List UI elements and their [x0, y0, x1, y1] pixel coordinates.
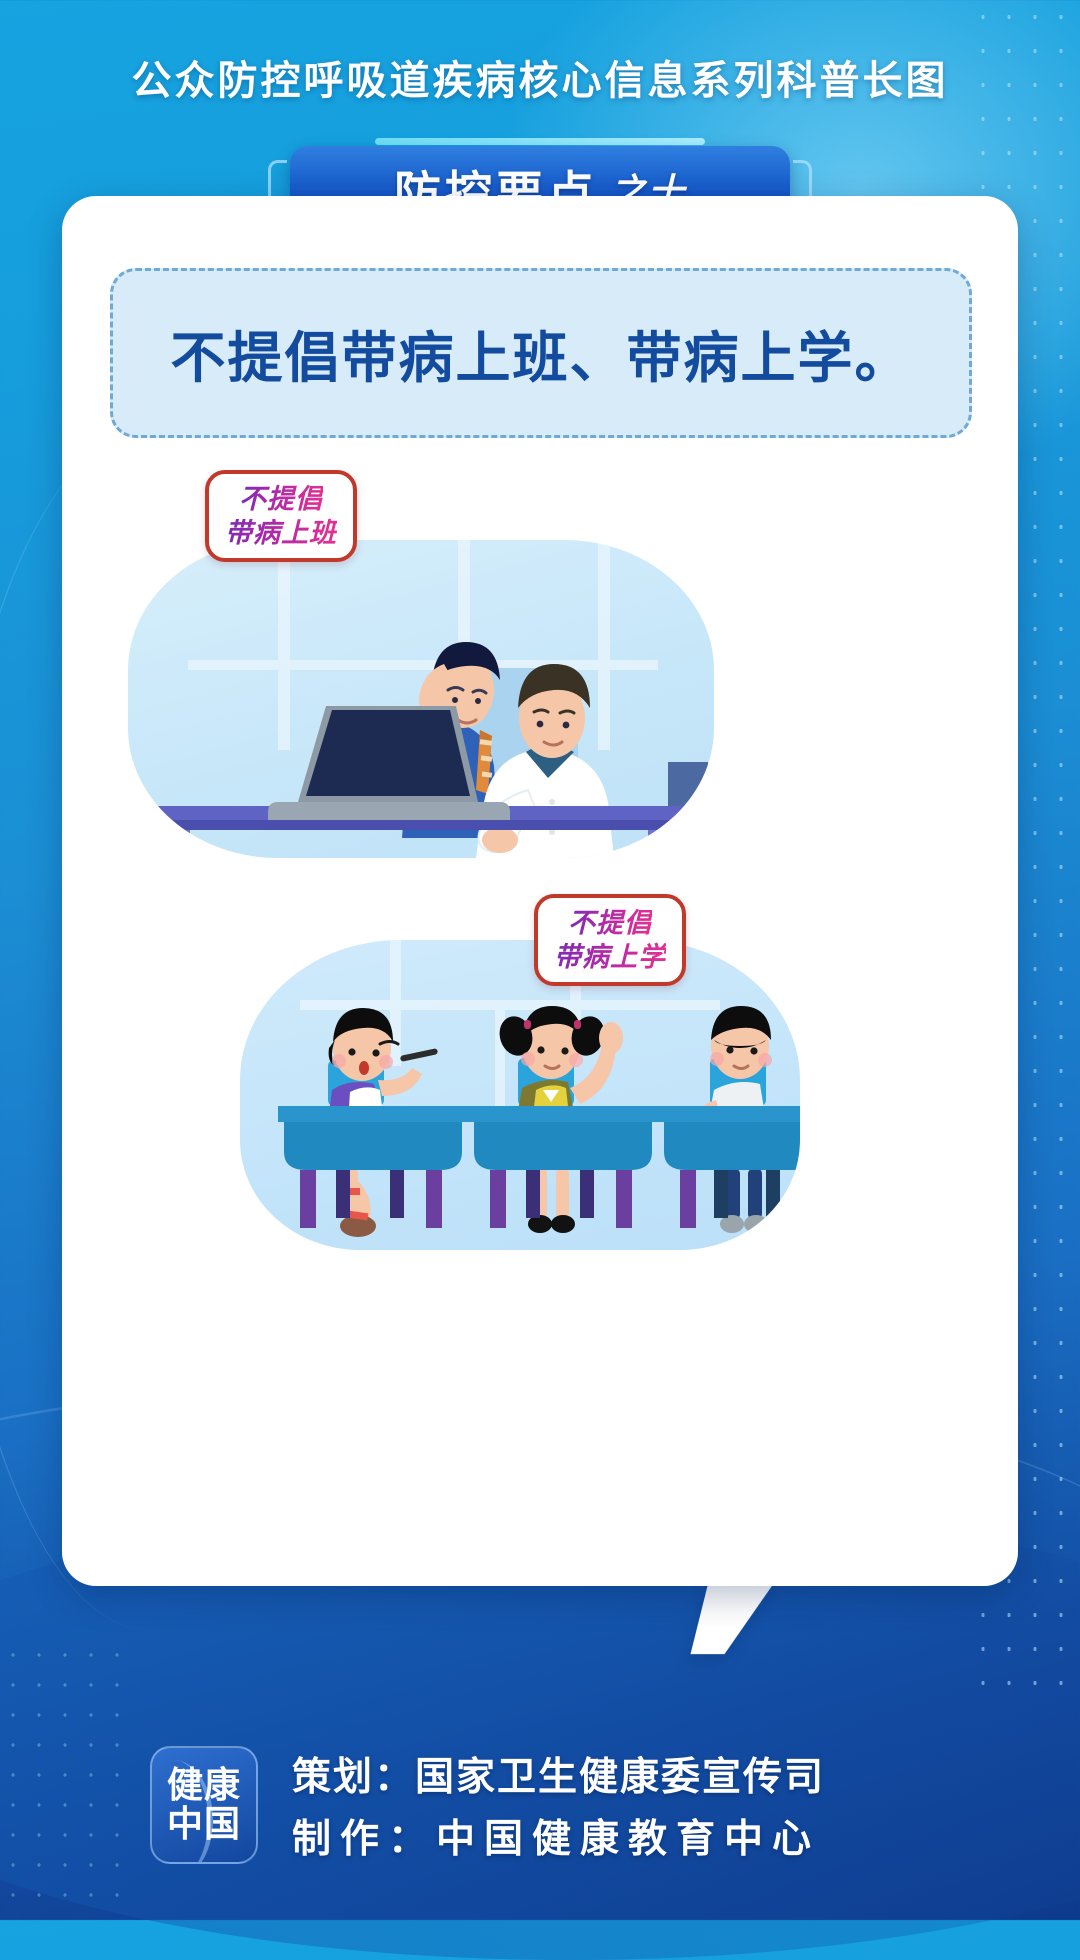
credit-planner: 策划：国家卫生健康委宣传司: [292, 1746, 825, 1802]
logo-line-2: 中国: [167, 1805, 241, 1844]
footer: 健康 中国 策划：国家卫生健康委宣传司 制作：中国健康教育中心: [0, 1690, 1080, 1920]
office-scene-illustration: [128, 540, 714, 858]
health-china-logo: 健康 中国: [150, 1746, 258, 1864]
badge-work-line2: 带病上班: [225, 516, 337, 550]
speech-bubble-tail: [691, 1578, 778, 1654]
logo-line-1: 健康: [167, 1766, 241, 1805]
badge-work-line1: 不提倡: [239, 482, 323, 516]
credits-block: 策划：国家卫生健康委宣传司 制作：中国健康教育中心: [292, 1746, 825, 1864]
series-title: 公众防控呼吸道疾病核心信息系列科普长图: [0, 48, 1080, 106]
credit-producer: 制作：中国健康教育中心: [292, 1808, 825, 1864]
message-text: 不提倡带病上班、带病上学。: [170, 313, 911, 393]
message-box: 不提倡带病上班、带病上学。: [110, 268, 972, 438]
badge-no-sick-school: 不提倡 带病上学: [534, 894, 686, 986]
classroom-scene-illustration: [240, 940, 800, 1250]
badge-school-line1: 不提倡: [568, 906, 652, 940]
badge-school-line2: 带病上学: [554, 940, 666, 974]
title-accent-line: [375, 138, 705, 145]
badge-no-sick-work: 不提倡 带病上班: [205, 470, 357, 562]
